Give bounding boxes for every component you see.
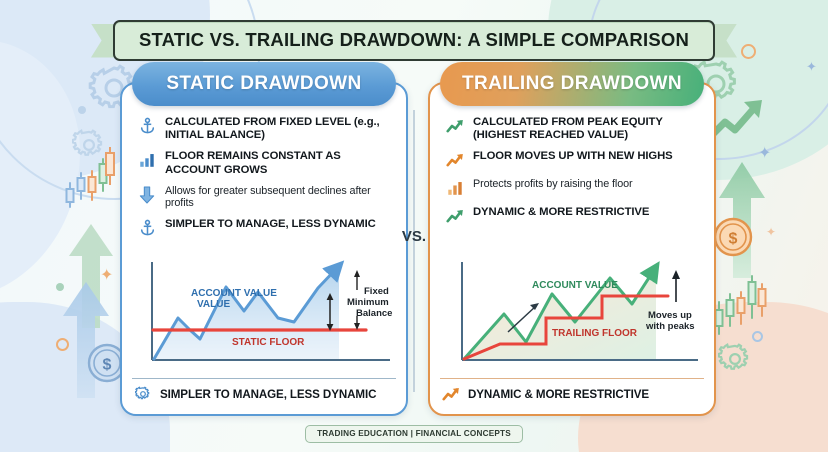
trailing-footer-bar: DYNAMIC & MORE RESTRICTIVE xyxy=(440,378,704,406)
list-item-label: FLOOR MOVES UP WITH NEW HIGHS xyxy=(473,150,673,163)
up-arrow-icon xyxy=(716,160,768,280)
sparkle-icon: ✦ xyxy=(100,268,113,284)
static-footer-label: SIMPLER TO MANAGE, LESS DYNAMIC xyxy=(160,388,376,401)
list-item-label: DYNAMIC & MORE RESTRICTIVE xyxy=(473,206,649,219)
sparkle-icon: ✦ xyxy=(766,226,776,238)
infographic-canvas: $ $ xyxy=(0,0,828,452)
static-footer-bar: SIMPLER TO MANAGE, LESS DYNAMIC xyxy=(132,378,396,406)
static-drawdown-header-label: STATIC DRAWDOWN xyxy=(166,73,361,95)
decor-dot xyxy=(56,283,64,291)
list-item: FLOOR MOVES UP WITH NEW HIGHS xyxy=(444,150,702,170)
orange-bar-chart-icon xyxy=(444,178,466,198)
static-drawdown-chart: ACCOUNT VALUE VALUE STATIC FLOOR Fixed M… xyxy=(134,256,396,376)
candlestick-chart-icon xyxy=(712,272,768,338)
svg-text:Minimum: Minimum xyxy=(347,297,389,308)
trailing-footer-label: DYNAMIC & MORE RESTRICTIVE xyxy=(468,388,649,401)
list-item: SIMPLER TO MANAGE, LESS DYNAMIC xyxy=(136,218,394,238)
static-drawdown-panel: STATIC DRAWDOWN CALCULATED FROM FIXED LE… xyxy=(120,82,408,416)
trailing-drawdown-header: TRAILING DRAWDOWN xyxy=(440,62,704,106)
orange-trend-arrow-icon xyxy=(440,386,462,402)
dollar-coin-icon: $ xyxy=(712,216,754,258)
list-item-label: CALCULATED FROM FIXED LEVEL (e.g., INITI… xyxy=(165,116,394,142)
list-item: FLOOR REMAINS CONSTANT AS ACCOUNT GROWS xyxy=(136,150,394,176)
anchor-icon xyxy=(136,218,158,238)
bottom-tag-wrap: TRADING EDUCATION | FINANCIAL CONCEPTS xyxy=(0,425,828,443)
trend-arrow-icon xyxy=(708,96,770,142)
gear-icon xyxy=(718,342,752,376)
svg-text:Fixed: Fixed xyxy=(364,286,389,297)
list-item-label: Allows for greater subsequent declines a… xyxy=(165,185,394,210)
gear-icon xyxy=(72,128,106,162)
decor-ring xyxy=(752,331,763,342)
trailing-drawdown-header-label: TRAILING DRAWDOWN xyxy=(462,73,682,95)
svg-text:$: $ xyxy=(103,357,112,374)
decor-dot xyxy=(78,106,86,114)
svg-text:with peaks: with peaks xyxy=(645,321,695,332)
orange-trend-arrow-icon xyxy=(444,150,466,170)
bar-chart-icon xyxy=(136,150,158,170)
list-item: CALCULATED FROM PEAK EQUITY (HIGHEST REA… xyxy=(444,116,702,142)
list-item-label: CALCULATED FROM PEAK EQUITY (HIGHEST REA… xyxy=(473,116,702,142)
svg-text:Moves up: Moves up xyxy=(648,310,692,321)
svg-text:Balance: Balance xyxy=(356,308,392,319)
list-item-label: FLOOR REMAINS CONSTANT AS ACCOUNT GROWS xyxy=(165,150,394,176)
chart-floor-label: TRAILING FLOOR xyxy=(552,328,638,339)
panel-divider xyxy=(413,110,415,392)
svg-text:$: $ xyxy=(729,231,738,248)
gear-icon xyxy=(132,386,154,402)
green-trend-arrow-icon xyxy=(444,206,466,226)
sparkle-icon: ✦ xyxy=(758,146,771,162)
bottom-tag-label: TRADING EDUCATION | FINANCIAL CONCEPTS xyxy=(305,425,523,443)
anchor-icon xyxy=(136,116,158,136)
page-title-text: STATIC VS. TRAILING DRAWDOWN: A SIMPLE C… xyxy=(139,29,689,50)
list-item: Protects profits by raising the floor xyxy=(444,178,702,198)
candlestick-icon xyxy=(101,145,119,195)
down-arrow-icon xyxy=(136,185,158,205)
trailing-drawdown-chart: ACCOUNT VALUE TRAILING FLOOR Moves up wi… xyxy=(442,256,704,376)
decor-ring xyxy=(56,338,69,351)
up-arrow-icon xyxy=(60,280,112,400)
page-title: STATIC VS. TRAILING DRAWDOWN: A SIMPLE C… xyxy=(113,20,715,61)
chart-series-label: ACCOUNT VALUE xyxy=(191,288,277,299)
vs-label: VS. xyxy=(396,228,432,245)
title-banner-wrap: STATIC VS. TRAILING DRAWDOWN: A SIMPLE C… xyxy=(0,20,828,61)
green-trend-arrow-icon xyxy=(444,116,466,136)
list-item: Allows for greater subsequent declines a… xyxy=(136,185,394,210)
sparkle-icon: ✦ xyxy=(806,60,817,73)
static-drawdown-header: STATIC DRAWDOWN xyxy=(132,62,396,106)
list-item: DYNAMIC & MORE RESTRICTIVE xyxy=(444,206,702,226)
chart-floor-label: STATIC FLOOR xyxy=(232,337,305,348)
chart-series-label: ACCOUNT VALUE xyxy=(532,280,618,291)
list-item-label: Protects profits by raising the floor xyxy=(473,178,633,191)
list-item-label: SIMPLER TO MANAGE, LESS DYNAMIC xyxy=(165,218,376,231)
list-item: CALCULATED FROM FIXED LEVEL (e.g., INITI… xyxy=(136,116,394,142)
background-blob-left xyxy=(0,40,80,300)
trailing-bullet-list: CALCULATED FROM PEAK EQUITY (HIGHEST REA… xyxy=(444,116,702,234)
svg-text:VALUE: VALUE xyxy=(197,299,230,310)
candlestick-chart-icon xyxy=(62,155,114,215)
up-arrow-icon xyxy=(66,222,116,330)
trailing-drawdown-panel: TRAILING DRAWDOWN CALCULATED FROM PEAK E… xyxy=(428,82,716,416)
static-bullet-list: CALCULATED FROM FIXED LEVEL (e.g., INITI… xyxy=(136,116,394,246)
